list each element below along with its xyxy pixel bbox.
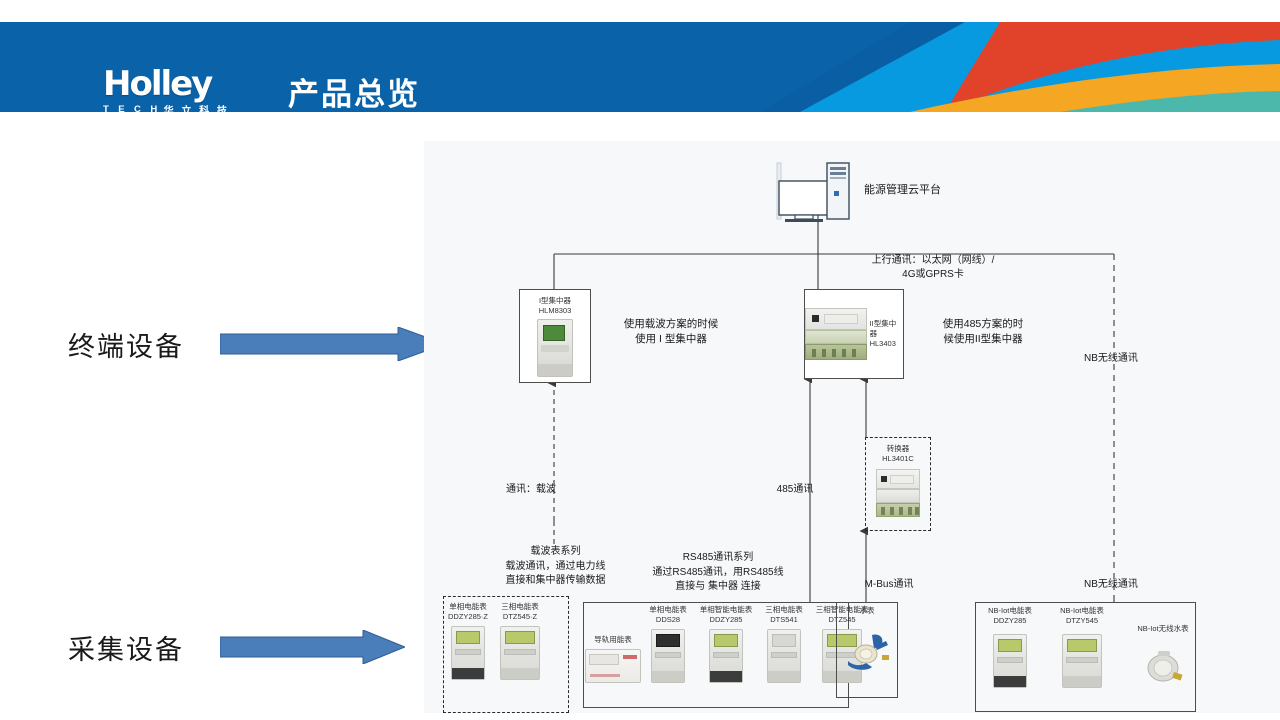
section-label-collection-devices: 采集设备 [68, 628, 184, 667]
meter-label: NB-Iot电能表 DTZY545 [1060, 606, 1104, 625]
slide-page: Holley T E C H 华 立 科 技 产品总览 终端设备 采集设备 [0, 0, 1280, 720]
meter-label: 水表 [860, 606, 875, 616]
rail-meter-icon [585, 649, 641, 683]
converter-icon [876, 469, 920, 517]
water-meter-icon [844, 631, 890, 671]
concentrator-type2-caption: 使用485方案的时 候使用II型集中器 [908, 317, 1058, 347]
uplink-communication-note: 上行通讯：以太网（网线）/ 4G或GPRS卡 [828, 254, 1038, 282]
meter-item[interactable]: 单相电能表 DDZY285·Z [448, 602, 488, 680]
link-label-nb-lower: NB无线通讯 [1084, 577, 1214, 592]
link-label-rs485: 485通讯 [740, 482, 850, 497]
link-label-carrier: 通讯：载波 [466, 482, 596, 497]
link-label-nb-upper: NB无线通讯 [1084, 351, 1214, 366]
meter-item[interactable]: 导轨用能表 [588, 635, 638, 684]
meter-label: 单相电能表 DDZY285·Z [448, 602, 488, 621]
meter-item[interactable]: NB-Iot电能表 DTZY545 [1052, 606, 1112, 688]
logo-subline: T E C H 华 立 科 技 [103, 102, 263, 112]
meter-label: NB-Iot无线水表 [1137, 624, 1188, 634]
terminal-devices-arrow-icon [220, 327, 445, 361]
meter-icon [709, 629, 743, 683]
cloud-platform-label: 能源管理云平台 [864, 183, 941, 198]
meter-item[interactable]: NB-Iot无线水表 [1124, 624, 1202, 689]
architecture-diagram: 能源管理云平台 上行通讯：以太网（网线）/ 4G或GPRS卡 I型集中器 HLM… [424, 141, 1280, 713]
meter-icon [451, 626, 485, 680]
meters-carrier: 单相电能表 DDZY285·Z 三相电能表 DTZ545·Z [448, 602, 540, 680]
meters-rs485: 导轨用能表 单相电能表 DDS28 单相智能电能表 DDZY285 三相电能表 … [588, 605, 870, 683]
meter-label: NB-Iot电能表 DDZY285 [988, 606, 1032, 625]
concentrator-type2-icon [805, 308, 866, 360]
meter-item[interactable]: 单相电能表 DDS28 [643, 605, 693, 683]
slide-header: Holley T E C H 华 立 科 技 产品总览 [0, 22, 1280, 112]
concentrator-type1-node[interactable]: I型集中器 HLM8303 [519, 289, 591, 383]
page-title: 产品总览 [288, 69, 420, 112]
meter-item[interactable]: NB-Iot电能表 DDZY285 [980, 606, 1040, 688]
concentrator-type1-title: I型集中器 HLM8303 [539, 290, 572, 316]
logo-cn-text: 华 立 科 技 [164, 102, 230, 112]
desktop-pc-icon [769, 159, 851, 229]
logo-wordmark-text: Holley [103, 64, 211, 104]
concentrator-type1-caption: 使用载波方案的时候 使用 I 型集中器 [596, 317, 746, 347]
holley-logo: Holley T E C H 华 立 科 技 [103, 67, 263, 112]
meter-item[interactable]: 水表 [836, 606, 898, 671]
meter-item[interactable]: 三相电能表 DTS541 [759, 605, 809, 683]
concentrator-type2-node[interactable]: II型集中器 HL3403 [804, 289, 904, 379]
logo-tech-text: T E C H [103, 104, 161, 112]
meter-icon [767, 629, 801, 683]
meters-nbiot: NB-Iot电能表 DDZY285 NB-Iot电能表 DTZY545 NB-I… [980, 606, 1202, 688]
meter-item[interactable]: 单相智能电能表 DDZY285 [698, 605, 754, 683]
logo-wordmark: Holley [103, 67, 263, 101]
concentrator-type2-title: II型集中器 HL3403 [870, 319, 903, 349]
meter-label: 单相智能电能表 DDZY285 [700, 605, 753, 624]
meter-label: 三相电能表 DTS541 [765, 605, 803, 624]
meter-label: 单相电能表 DDS28 [649, 605, 687, 624]
meter-item[interactable]: 三相电能表 DTZ545·Z [500, 602, 540, 680]
water-meter-icon [1140, 648, 1186, 688]
group-title-rs485: RS485通讯系列 通过RS485通讯，用RS485线 直接与 集中器 连接 [588, 551, 848, 595]
meter-label: 导轨用能表 [594, 635, 632, 645]
section-label-terminal-devices: 终端设备 [68, 325, 184, 364]
header-swoosh-graphic [760, 22, 1280, 112]
meter-icon [993, 634, 1027, 688]
meter-icon [1062, 634, 1102, 688]
concentrator-type1-icon [537, 319, 573, 377]
converter-node[interactable]: 转换器 HL3401C [865, 437, 931, 531]
meter-icon [500, 626, 540, 680]
converter-title: 转换器 HL3401C [882, 438, 914, 464]
meter-icon [651, 629, 685, 683]
meter-label: 三相电能表 DTZ545·Z [501, 602, 539, 621]
collection-devices-arrow-icon [220, 630, 405, 664]
